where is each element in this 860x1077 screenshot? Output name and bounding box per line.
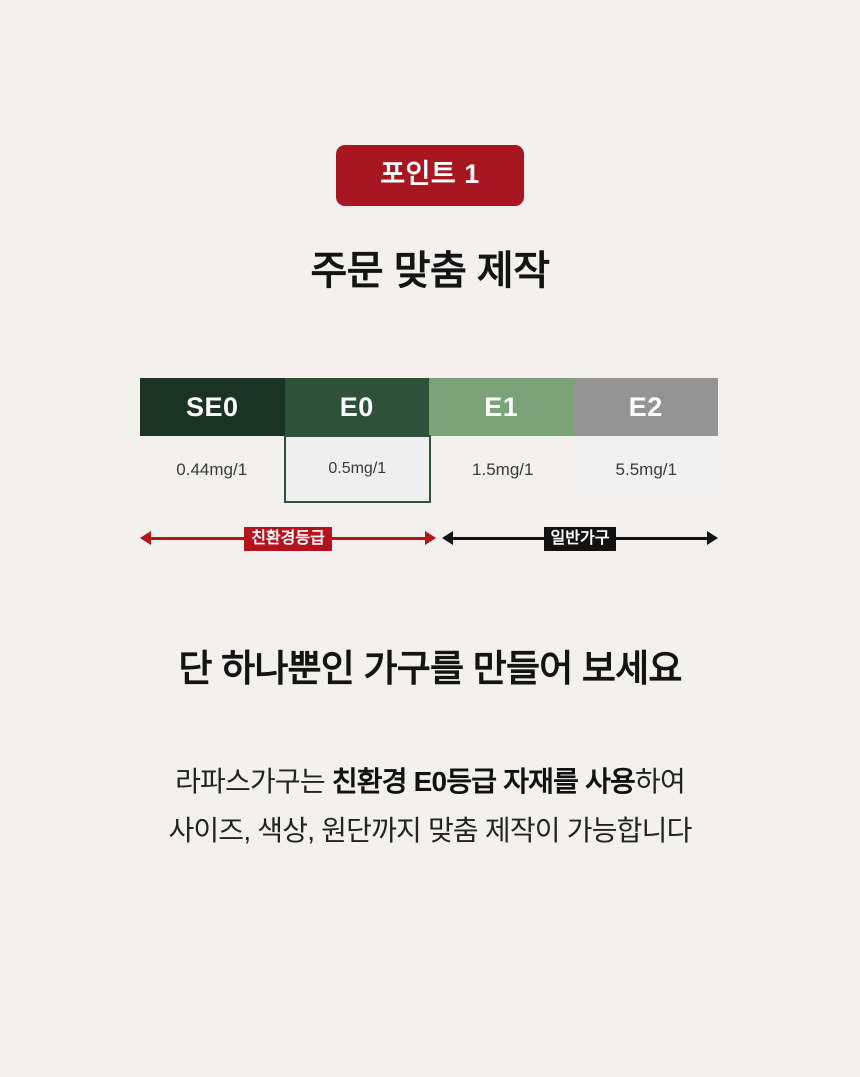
body-copy-line1-strong: 친환경 E0등급 자재를 사용 (332, 766, 635, 797)
body-copy: 라파스가구는 친환경 E0등급 자재를 사용하여 사이즈, 색상, 원단까지 맞… (0, 757, 860, 855)
grade-value-e0: 0.5mg/1 (284, 435, 432, 503)
promo-page: 포인트 1 주문 맞춤 제작 SE0 E0 E1 E2 0.44mg/1 0.5… (0, 0, 860, 1077)
body-copy-line1-post: 하여 (635, 766, 685, 797)
eco-grade-range: 친환경등급 (140, 524, 436, 554)
lead-heading: 단 하나뿐인 가구를 만들어 보세요 (0, 645, 860, 693)
normal-furniture-label: 일반가구 (544, 527, 617, 552)
arrow-right-icon (707, 531, 718, 545)
grade-header-e2: E2 (574, 378, 719, 436)
grade-header-row: SE0 E0 E1 E2 (140, 378, 718, 436)
body-copy-line-1: 라파스가구는 친환경 E0등급 자재를 사용하여 (0, 757, 860, 806)
grade-header-e1: E1 (429, 378, 574, 436)
section-title: 주문 맞춤 제작 (0, 246, 860, 296)
body-copy-line-2: 사이즈, 색상, 원단까지 맞춤 제작이 가능합니다 (0, 806, 860, 855)
range-arrows: 친환경등급 일반가구 (140, 524, 718, 554)
arrow-right-icon (425, 531, 436, 545)
grade-value-row: 0.44mg/1 0.5mg/1 1.5mg/1 5.5mg/1 (140, 436, 718, 503)
point-badge: 포인트 1 (336, 145, 524, 206)
eco-grade-label: 친환경등급 (244, 527, 332, 552)
body-copy-line1-pre: 라파스가구는 (175, 766, 332, 797)
point-badge-container: 포인트 1 (0, 145, 860, 206)
grade-value-se0: 0.44mg/1 (140, 436, 284, 503)
grade-header-se0: SE0 (140, 378, 285, 436)
grade-header-e0: E0 (285, 378, 430, 436)
normal-furniture-range: 일반가구 (442, 524, 718, 554)
grade-value-e1: 1.5mg/1 (431, 436, 575, 503)
grade-value-e2: 5.5mg/1 (575, 436, 719, 503)
emission-grade-table: SE0 E0 E1 E2 0.44mg/1 0.5mg/1 1.5mg/1 5.… (140, 378, 718, 503)
